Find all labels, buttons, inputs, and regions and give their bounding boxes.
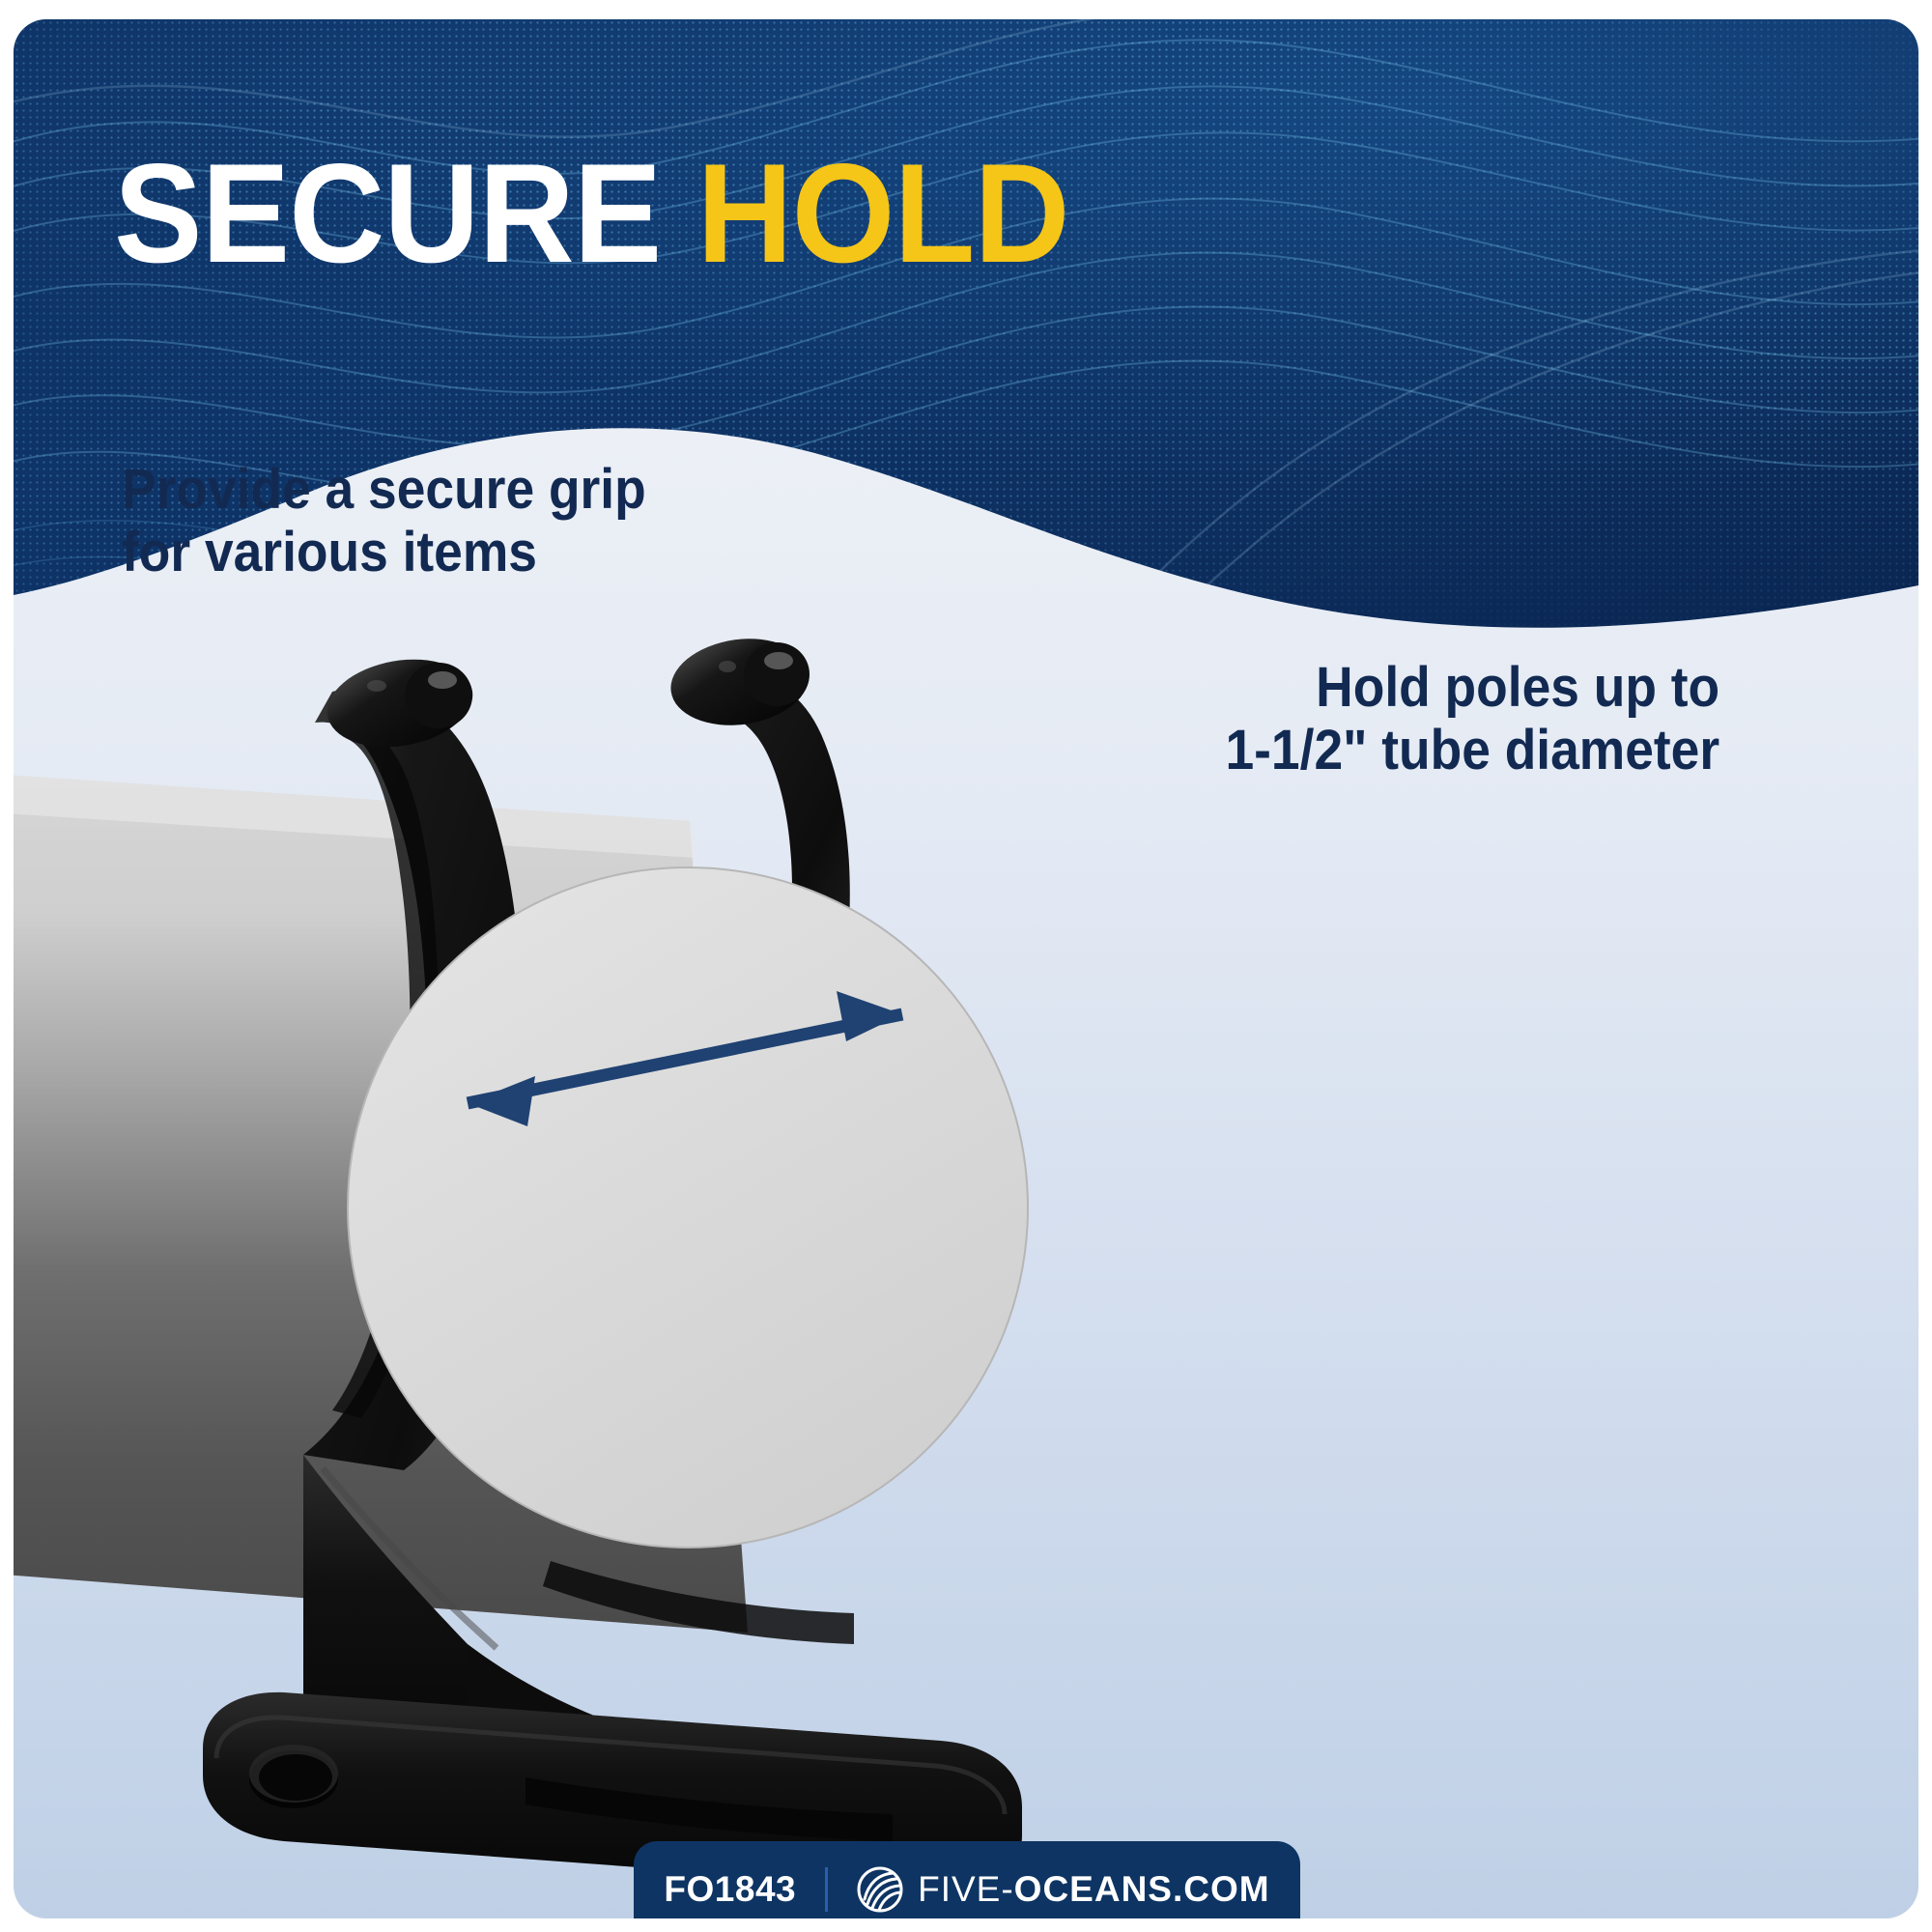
brand-text: FIVE-OCEANS.COM xyxy=(918,1869,1269,1910)
brand-text-bold: OCEANS.COM xyxy=(1014,1869,1270,1909)
footer-divider xyxy=(825,1867,828,1912)
title-word-secure: SECURE xyxy=(114,134,661,292)
product-sku: FO1843 xyxy=(664,1869,796,1910)
brand-logo[interactable]: FIVE-OCEANS.COM xyxy=(857,1866,1269,1913)
subtitle-line-1: Provide a secure grip xyxy=(122,459,646,522)
brand-text-light: FIVE- xyxy=(918,1869,1014,1909)
page-title: SECURE HOLD xyxy=(114,143,1069,284)
infographic-card: SECURE HOLD Provide a secure grip for va… xyxy=(14,19,1918,1918)
callout-line-2: 1-1/2" tube diameter xyxy=(1225,720,1719,782)
subtitle-text: Provide a secure grip for various items xyxy=(122,459,646,584)
callout-line-1: Hold poles up to xyxy=(1225,657,1719,720)
shell-wave-icon xyxy=(857,1866,903,1913)
subtitle-line-2: for various items xyxy=(122,522,646,584)
product-photo xyxy=(14,599,1134,1884)
title-word-hold: HOLD xyxy=(697,134,1069,292)
footer-bar: FO1843 FIVE-OCEANS.COM xyxy=(634,1841,1300,1918)
callout-text: Hold poles up to 1-1/2" tube diameter xyxy=(1225,657,1719,782)
